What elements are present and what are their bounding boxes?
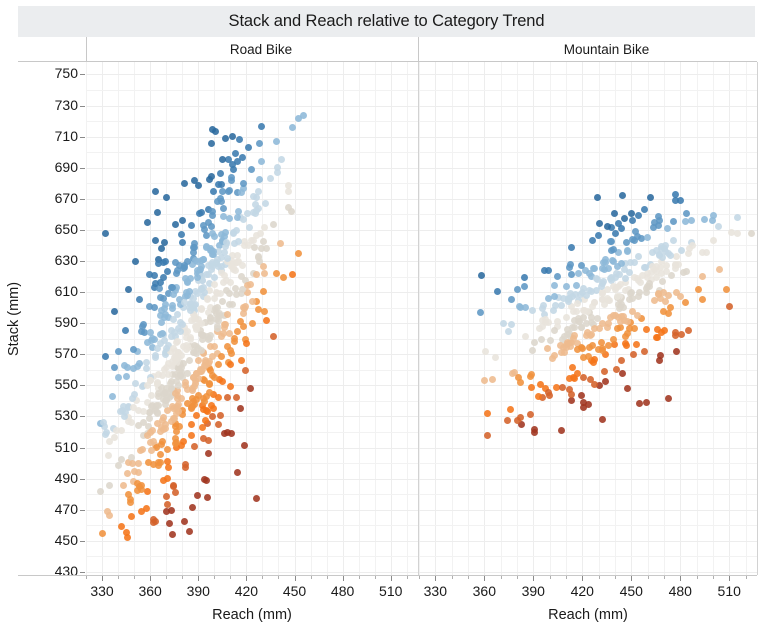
x-axis-tick-label: 390 [173,583,223,599]
scatter-point [540,302,547,309]
gridline-horizontal [419,90,757,91]
y-axis-tick-label: 710 [34,128,78,144]
scatter-point [551,327,558,334]
y-axis-tick-mark [80,323,85,324]
y-axis-tick-label: 670 [34,190,78,206]
scatter-point [188,421,195,428]
scatter-point [672,262,679,269]
scatter-point [678,247,685,254]
scatter-point [262,200,269,207]
scatter-point [163,194,170,201]
x-axis-tick-mark [102,576,103,581]
scatter-point [148,447,155,454]
x-axis-tick-minor [134,576,135,579]
y-axis-tick-mark [80,168,85,169]
scatter-point [152,188,159,195]
scatter-point [588,319,595,326]
scatter-point [183,289,190,296]
scatter-point [227,347,234,354]
gridline-vertical [501,62,502,575]
scatter-point [174,403,181,410]
scatter-point [158,245,165,252]
scatter-point [170,482,177,489]
scatter-point [612,230,619,237]
scatter-point [206,389,213,396]
y-axis-tick-mark [80,572,85,573]
scatter-point [100,419,107,426]
gridline-vertical [246,62,247,575]
scatter-point [228,430,235,437]
scatter-point [670,218,677,225]
scatter-point [250,237,257,244]
scatter-point [531,429,538,436]
scatter-point [198,306,205,313]
scatter-point [601,368,608,375]
scatter-point [163,493,170,500]
scatter-point [699,273,706,280]
scatter-point [221,430,228,437]
scatter-point [234,158,241,165]
gridline-vertical [697,62,698,575]
gridline-horizontal [419,168,757,169]
x-axis-tick-label: 330 [410,583,460,599]
gridline-horizontal [419,479,757,480]
scatter-point [280,274,287,281]
scatter-point [261,270,268,277]
x-axis-tick-minor [327,576,328,579]
gridline-horizontal [419,230,757,231]
scatter-point [236,136,243,143]
gridline-horizontal [86,137,418,138]
scatter-point [614,263,621,270]
scatter-point [240,323,247,330]
scatter-point [568,244,575,251]
scatter-point [102,230,109,237]
scatter-point [580,374,587,381]
x-axis-tick-mark [631,576,632,581]
scatter-point [211,295,218,302]
scatter-point [124,364,131,371]
y-axis-tick-mark [80,261,85,262]
scatter-point [285,188,292,195]
x-axis-tick-minor [615,576,616,579]
scatter-point [529,347,536,354]
scatter-point [537,381,544,388]
scatter-point [210,188,217,195]
scatter-point [194,492,201,499]
scatter-point [504,417,511,424]
scatter-point [181,262,188,269]
scatter-point [139,446,146,453]
scatter-point [163,345,170,352]
scatter-point [253,495,260,502]
gridline-vertical [517,62,518,575]
scatter-point [180,360,187,367]
scatter-point [267,175,274,182]
scatter-point [651,297,658,304]
x-axis-tick-label: 420 [221,583,271,599]
scatter-point [228,177,235,184]
scatter-point [164,501,171,508]
scatter-point [161,314,168,321]
scatter-point [589,237,596,244]
x-axis-tick-minor [746,576,747,579]
scatter-point [716,266,723,273]
x-axis-tick-minor [359,576,360,579]
scatter-point [728,229,735,236]
scatter-point [227,383,234,390]
x-axis-tick-minor [182,576,183,579]
scatter-point [211,281,218,288]
scatter-point [695,286,702,293]
scatter-point [577,291,584,298]
scatter-point [578,392,585,399]
scatter-point [177,319,184,326]
y-axis-tick-label: 450 [34,532,78,548]
scatter-point [200,395,207,402]
scatter-point [188,222,195,229]
scatter-point [180,438,187,445]
scatter-point [635,293,642,300]
scatter-point [174,311,181,318]
y-axis-tick-label: 570 [34,345,78,361]
y-axis-tick-label: 690 [34,159,78,175]
gridline-horizontal [86,525,418,526]
scatter-point [505,328,512,335]
scatter-point [160,426,167,433]
scatter-point [261,224,268,231]
scatter-point [118,523,125,530]
scatter-point [224,394,231,401]
scatter-point [234,259,241,266]
scatter-point [598,339,605,346]
scatter-point [539,323,546,330]
scatter-point [219,378,226,385]
scatter-point [566,264,573,271]
scatter-point [162,258,169,265]
chart-figure: Stack and Reach relative to Category Tre… [0,0,768,640]
scatter-point [274,164,281,171]
x-axis-tick-label: 390 [508,583,558,599]
gridline-horizontal [86,152,418,153]
scatter-point [699,296,706,303]
x-axis-tick-mark [484,576,485,581]
scatter-point [588,288,595,295]
x-axis-tick-minor [517,576,518,579]
scatter-point [198,320,205,327]
y-axis-tick-mark [80,510,85,511]
gridline-horizontal [419,416,757,417]
scatter-point [138,508,145,515]
facet-header-strip: Road Bike Mountain Bike [18,37,757,62]
scatter-point [573,282,580,289]
scatter-point [211,233,218,240]
scatter-point [120,482,127,489]
scatter-point [202,359,209,366]
x-axis-tick-mark [198,576,199,581]
gridline-vertical [359,62,360,575]
x-axis-tick-label: 510 [366,583,416,599]
scatter-point [608,274,615,281]
scatter-point [551,282,558,289]
scatter-point [726,303,733,310]
scatter-point [658,245,665,252]
scatter-point [245,144,252,151]
scatter-point [190,349,197,356]
x-axis-tick-minor [262,576,263,579]
scatter-point [579,345,586,352]
scatter-point [633,341,640,348]
scatter-point [585,353,592,360]
scatter-point [300,112,307,119]
scatter-point [140,408,147,415]
scatter-point [193,412,200,419]
scatter-point [178,231,185,238]
scatter-point [151,336,158,343]
scatter-point [565,298,572,305]
scatter-point [656,217,663,224]
y-axis-tick-mark [80,354,85,355]
scatter-point [193,396,200,403]
scatter-point [531,339,538,346]
scatter-point [102,431,109,438]
y-axis-tick-label: 650 [34,221,78,237]
x-axis-tick-label: 480 [318,583,368,599]
gridline-vertical [86,62,87,575]
scatter-point [664,225,671,232]
scatter-point [207,367,214,374]
scatter-point [673,289,680,296]
x-axis-tick-label: 360 [125,583,175,599]
scatter-point [643,326,650,333]
scatter-point [575,270,582,277]
x-axis-tick-mark [533,576,534,581]
x-axis-tick-minor [419,576,420,579]
gridline-horizontal [86,230,418,231]
x-axis-tick-minor [697,576,698,579]
scatter-point [157,451,164,458]
scatter-point [148,392,155,399]
scatter-point [122,327,129,334]
scatter-point [106,482,113,489]
scatter-point [170,345,177,352]
scatter-point [653,334,660,341]
scatter-point [169,531,176,538]
x-axis-tick-mark [246,576,247,581]
scatter-point [164,446,171,453]
scatter-point [220,205,227,212]
scatter-point [253,207,260,214]
scatter-point [482,348,489,355]
gridline-horizontal [86,541,418,542]
scatter-point [522,304,529,311]
scatter-point [238,189,245,196]
scatter-point [134,363,141,370]
scatter-point [605,265,612,272]
gridline-vertical [468,62,469,575]
x-axis-tick-minor [599,576,600,579]
scatter-point [484,410,491,417]
gridline-horizontal [419,432,757,433]
scatter-point [748,230,755,237]
scatter-point [571,375,578,382]
scatter-point [521,283,528,290]
scatter-point [260,263,267,270]
scatter-point [631,274,638,281]
scatter-point [115,374,122,381]
scatter-point [111,434,118,441]
scatter-point [222,135,229,142]
scatter-point [270,221,277,228]
scatter-point [554,273,561,280]
x-axis-tick-minor [278,576,279,579]
scatter-point [226,215,233,222]
y-axis-tick-label: 590 [34,314,78,330]
scatter-point [260,238,267,245]
scatter-point [162,401,169,408]
scatter-point [563,283,570,290]
scatter-point [659,278,666,285]
gridline-horizontal [86,339,418,340]
scatter-point [595,232,602,239]
scatter-point [509,370,516,377]
scatter-point [123,373,130,380]
scatter-point [237,405,244,412]
gridline-horizontal [419,463,757,464]
scatter-point [622,340,629,347]
scatter-point [186,357,193,364]
scatter-point [192,301,199,308]
gridline-horizontal [419,214,757,215]
scatter-point [186,528,193,535]
gridline-vertical [391,62,392,575]
scatter-point [215,181,222,188]
gridline-horizontal [86,556,418,557]
scatter-point [529,307,536,314]
gridline-horizontal [86,432,418,433]
scatter-point [152,354,159,361]
scatter-point [207,332,214,339]
scatter-point [220,279,227,286]
y-axis-title-text: Stack (mm) [6,281,22,355]
x-axis-tick-minor [166,576,167,579]
scatter-point [647,194,654,201]
scatter-point [218,333,225,340]
panel-right-border [757,62,758,575]
scatter-point [621,215,628,222]
gridline-horizontal [86,292,418,293]
scatter-point [541,267,548,274]
scatter-point [198,347,205,354]
gridline-horizontal [86,74,418,75]
scatter-point [604,295,611,302]
scatter-point [683,210,690,217]
scatter-point [686,245,693,252]
scatter-point [154,345,161,352]
scatter-point [172,390,179,397]
scatter-point [106,512,113,519]
scatter-point [157,279,164,286]
scatter-point [629,217,636,224]
gridline-vertical [150,62,151,575]
scatter-point [189,387,196,394]
scatter-point [683,268,690,275]
gridline-horizontal [419,448,757,449]
scatter-point [289,271,296,278]
gridline-horizontal [86,510,418,511]
gridline-horizontal [86,308,418,309]
scatter-point [641,348,648,355]
gridline-horizontal [419,494,757,495]
y-axis-tick-label: 490 [34,470,78,486]
scatter-point [178,352,185,359]
scatter-point [128,513,135,520]
scatter-point [594,194,601,201]
scatter-point [211,374,218,381]
scatter-point [602,378,609,385]
scatter-point [665,395,672,402]
scatter-point [522,333,529,340]
scatter-point [734,230,741,237]
y-axis-tick-mark [80,416,85,417]
scatter-point [242,367,249,374]
gridline-horizontal [86,183,418,184]
gridline-vertical [713,62,714,575]
x-axis-tick-minor [566,576,567,579]
scatter-point [150,516,157,523]
scatter-point [248,166,255,173]
scatter-point [613,366,620,373]
gridline-horizontal [419,572,757,573]
scatter-point [618,225,625,232]
gridline-horizontal [86,448,418,449]
scatter-point [667,304,674,311]
scatter-point [668,272,675,279]
gridline-horizontal [86,121,418,122]
scatter-point [629,295,636,302]
x-axis-tick-label: 450 [270,583,320,599]
scatter-point [217,170,224,177]
x-axis-tick-label: 450 [606,583,656,599]
x-axis-tick-mark [680,576,681,581]
gridline-vertical [729,62,730,575]
gridline-vertical [452,62,453,575]
scatter-point [227,361,234,368]
scatter-point [188,432,195,439]
scatter-point [146,409,153,416]
scatter-point [682,299,689,306]
scatter-point [608,238,615,245]
scatter-point [590,359,597,366]
scatter-point [212,305,219,312]
scatter-point [622,333,629,340]
gridline-horizontal [86,106,418,107]
scatter-point [629,236,636,243]
scatter-point [115,462,122,469]
scatter-point [246,224,253,231]
scatter-point [115,348,122,355]
x-axis-tick-mark [150,576,151,581]
gridline-vertical [295,62,296,575]
gridline-horizontal [86,277,418,278]
scatter-point [155,260,162,267]
x-axis-tick-minor [468,576,469,579]
x-axis-tick-minor [214,576,215,579]
x-axis-tick-minor [311,576,312,579]
gridline-horizontal [86,494,418,495]
scatter-point [699,249,706,256]
gridline-vertical [327,62,328,575]
